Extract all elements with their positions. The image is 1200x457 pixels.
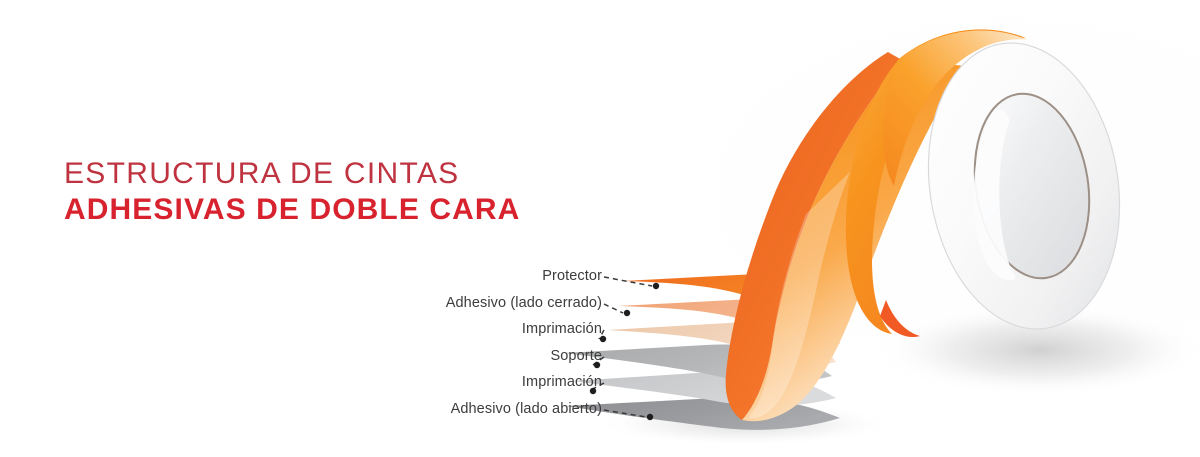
layer-label-0: Protector — [542, 268, 602, 284]
leader-line-1 — [604, 304, 623, 313]
leader-dot-1 — [624, 310, 630, 316]
leader-line-5 — [604, 410, 646, 417]
title-line-1: ESTRUCTURA DE CINTAS — [64, 158, 520, 189]
layer-label-5: Adhesivo (lado abierto) — [451, 401, 602, 417]
leader-dot-0 — [653, 283, 659, 289]
layer-label-1: Adhesivo (lado cerrado) — [446, 295, 602, 311]
tape-structure-infographic: ProtectorAdhesivo (lado cerrado)Imprimac… — [0, 0, 1200, 457]
page-title: ESTRUCTURA DE CINTAS ADHESIVAS DE DOBLE … — [64, 158, 520, 225]
layer-label-column: ProtectorAdhesivo (lado cerrado)Imprimac… — [0, 0, 602, 457]
layer-label-2: Imprimación — [522, 321, 602, 337]
leader-dot-5 — [647, 414, 653, 420]
layer-label-3: Soporte — [551, 348, 603, 364]
layer-label-4: Imprimación — [522, 374, 602, 390]
title-line-2: ADHESIVAS DE DOBLE CARA — [64, 194, 520, 225]
leader-line-0 — [604, 277, 652, 286]
